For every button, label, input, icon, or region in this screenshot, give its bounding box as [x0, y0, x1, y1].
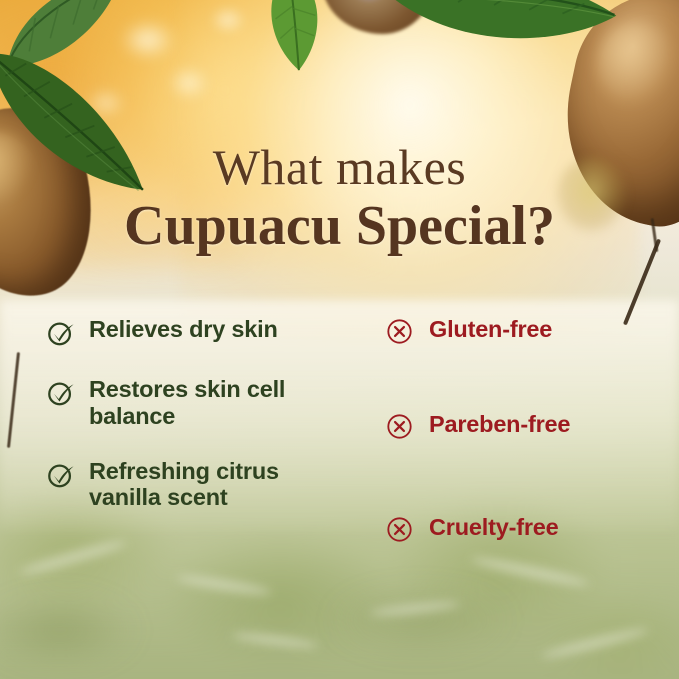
list-item: Cruelty-free: [386, 514, 646, 546]
headline-line-1: What makes: [0, 142, 679, 192]
headline-line-2: Cupuacu Special?: [0, 198, 679, 254]
free-label: Gluten-free: [429, 316, 552, 343]
check-circle-icon: [46, 318, 76, 348]
poster-content: What makes Cupuacu Special? Relieves dry…: [0, 0, 679, 679]
benefits-column: Relieves dry skin Restores skin cell bal…: [46, 316, 386, 546]
list-item: Refreshing citrus vanilla scent: [46, 458, 386, 512]
list-item: Relieves dry skin: [46, 316, 386, 348]
check-circle-icon: [46, 378, 76, 408]
benefits-list-container: Relieves dry skin Restores skin cell bal…: [46, 316, 646, 546]
x-circle-icon: [386, 318, 416, 348]
list-item: Pareben-free: [386, 411, 646, 443]
free-of-column: Gluten-free Pareben-free: [386, 316, 646, 546]
page-title: What makes Cupuacu Special?: [0, 142, 679, 254]
cupuacu-benefits-poster: What makes Cupuacu Special? Relieves dry…: [0, 0, 679, 679]
benefit-label: Refreshing citrus vanilla scent: [89, 458, 351, 512]
benefit-label: Restores skin cell balance: [89, 376, 339, 430]
list-item: Gluten-free: [386, 316, 646, 348]
x-circle-icon: [386, 516, 416, 546]
free-label: Pareben-free: [429, 411, 570, 438]
list-item: Restores skin cell balance: [46, 376, 386, 430]
check-circle-icon: [46, 460, 76, 490]
free-label: Cruelty-free: [429, 514, 559, 541]
x-circle-icon: [386, 413, 416, 443]
benefit-label: Relieves dry skin: [89, 316, 278, 343]
